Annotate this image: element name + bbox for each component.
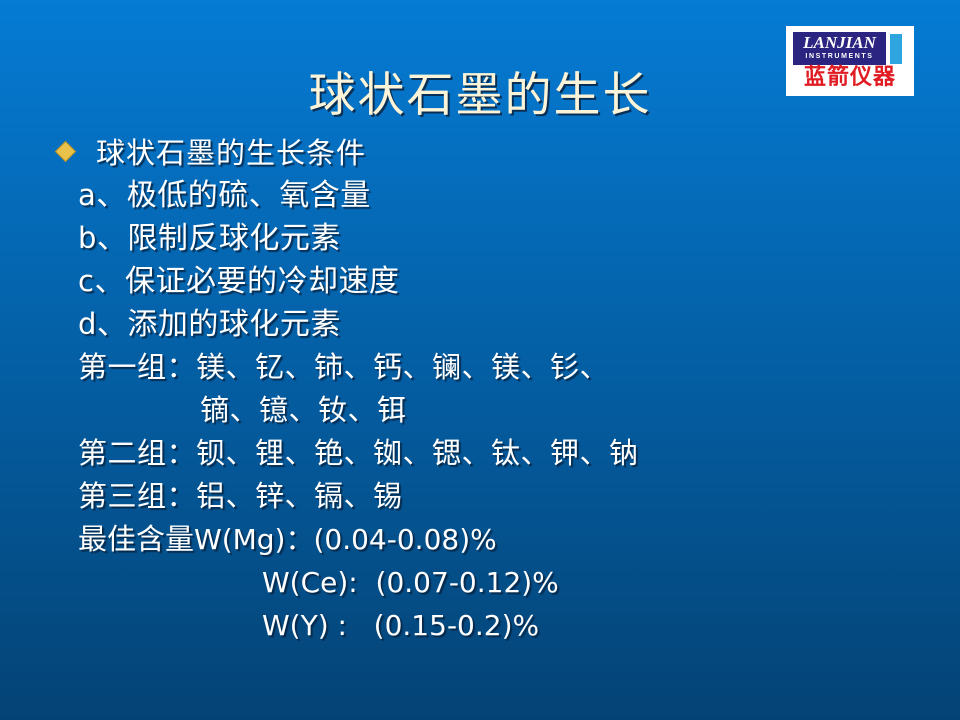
group-elements: 铝、锌、镉、锡 xyxy=(196,479,403,513)
slide-body: 球状石墨的生长条件 a、极低的硫、氧含量 b、限制反球化元素 c、保证必要的冷却… xyxy=(0,132,960,647)
list-item-label: a xyxy=(78,178,96,212)
logo-wordmark-text: LANJIAN xyxy=(793,34,886,52)
bullet-label: 球状石墨的生长条件 xyxy=(96,133,366,173)
logo-accent-bar xyxy=(890,34,902,64)
optimal-value-row: W(Ce): (0.07-0.12)% xyxy=(0,561,960,604)
diamond-bullet-icon xyxy=(55,141,76,162)
list-item-text: 添加的球化元素 xyxy=(127,307,341,342)
group-row: 第一组：镁、钇、铈、钙、镧、镁、钐、 xyxy=(0,346,960,389)
list-item-text: 保证必要的冷却速度 xyxy=(125,264,400,299)
list-item-sep: 、 xyxy=(94,264,125,299)
group-continuation-row: 镝、镱、钕、铒 xyxy=(0,389,960,432)
list-item-label: b xyxy=(78,221,97,255)
list-item-label: c xyxy=(78,264,94,298)
company-logo: LANJIAN INSTRUMENTS 蓝箭仪器 xyxy=(786,26,914,96)
group-name: 第一组： xyxy=(78,350,196,384)
logo-wordmark-block: LANJIAN INSTRUMENTS xyxy=(793,32,907,65)
group-name: 第二组： xyxy=(78,436,196,470)
optimal-value-y: W(Y) : (0.15-0.2)% xyxy=(262,609,539,642)
slide-canvas: 球状石墨的生长 LANJIAN INSTRUMENTS 蓝箭仪器 球状石墨的生长… xyxy=(0,0,960,720)
list-item-sep: 、 xyxy=(97,221,128,256)
list-item: a、极低的硫、氧含量 xyxy=(0,174,960,217)
bullet-row: 球状石墨的生长条件 xyxy=(0,132,960,174)
list-item-text: 极低的硫、氧含量 xyxy=(127,178,371,213)
group-elements: 钡、锂、铯、铷、锶、钛、钾、钠 xyxy=(196,436,639,470)
list-item-label: d xyxy=(78,307,97,341)
list-item: c、保证必要的冷却速度 xyxy=(0,260,960,303)
group-elements: 镁、钇、铈、钙、镧、镁、钐、 xyxy=(196,350,609,384)
group-row: 第二组：钡、锂、铯、铷、锶、钛、钾、钠 xyxy=(0,432,960,475)
list-item-sep: 、 xyxy=(97,307,128,342)
group-row: 第三组：铝、锌、镉、锡 xyxy=(0,475,960,518)
optimal-value-ce: W(Ce): (0.07-0.12)% xyxy=(262,566,559,599)
list-item-sep: 、 xyxy=(96,178,127,213)
group-elements-continued: 镝、镱、钕、铒 xyxy=(200,393,407,427)
list-item: b、限制反球化元素 xyxy=(0,217,960,260)
optimal-value-row: W(Y) : (0.15-0.2)% xyxy=(0,604,960,647)
logo-chinese-name: 蓝箭仪器 xyxy=(792,64,908,91)
optimal-content-label: 最佳含量 xyxy=(78,522,194,556)
list-item: d、添加的球化元素 xyxy=(0,303,960,346)
optimal-content-row: 最佳含量W(Mg)：(0.04-0.08)% xyxy=(0,518,960,561)
optimal-value-mg: W(Mg)：(0.04-0.08)% xyxy=(194,523,497,556)
logo-subwordmark-text: INSTRUMENTS xyxy=(793,52,886,61)
list-item-text: 限制反球化元素 xyxy=(127,221,341,256)
group-name: 第三组： xyxy=(78,479,196,513)
